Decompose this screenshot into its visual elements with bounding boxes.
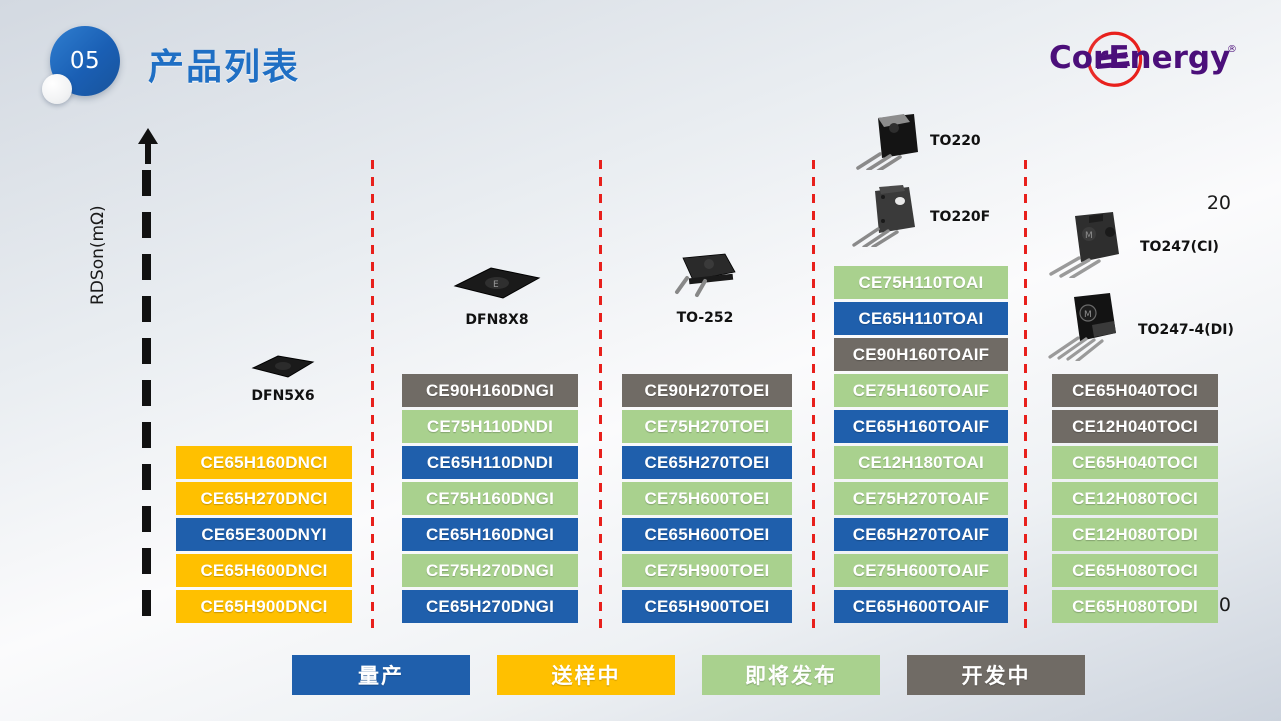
product-column-dfn8x8: CE90H160DNGICE75H110DNDICE65H110DNDICE75… — [402, 150, 578, 623]
column-divider-1 — [371, 160, 374, 630]
product-chip-label: CE65H040TOCI — [1072, 381, 1198, 401]
product-column-to252: CE90H270TOEICE75H270TOEICE65H270TOEICE75… — [622, 150, 792, 623]
product-chip-label: CE65H270DNGI — [426, 597, 554, 617]
section-number-badge: 05 — [42, 26, 138, 106]
badge-accent-dot — [42, 74, 72, 104]
product-chip[interactable]: CE65H900TOEI — [622, 590, 792, 623]
column-divider-2 — [599, 160, 602, 630]
product-chip[interactable]: CE75H600TOEI — [622, 482, 792, 515]
product-chip[interactable]: CE65H270DNGI — [402, 590, 578, 623]
product-chip-label: CE75H160DNGI — [426, 489, 554, 509]
product-chip-label: CE65H080TOCI — [1072, 561, 1198, 581]
corenergy-logo: CorEnergy ® — [1045, 28, 1245, 90]
product-chip[interactable]: CE65H600TOEI — [622, 518, 792, 551]
product-chip-label: CE75H110TOAI — [859, 273, 984, 293]
product-chip-label: CE90H160DNGI — [426, 381, 554, 401]
product-chip[interactable]: CE75H270DNGI — [402, 554, 578, 587]
product-chip[interactable]: CE12H180TOAI — [834, 446, 1008, 479]
product-chip[interactable]: CE75H600TOAIF — [834, 554, 1008, 587]
product-chip[interactable]: CE90H160TOAIF — [834, 338, 1008, 371]
product-chip-label: CE65H110DNDI — [427, 453, 553, 473]
product-chip[interactable]: CE65H270TOEI — [622, 446, 792, 479]
product-chip-label: CE65H600DNCI — [200, 561, 327, 581]
product-chip[interactable]: CE65H160TOAIF — [834, 410, 1008, 443]
product-chip[interactable]: CE75H270TOAIF — [834, 482, 1008, 515]
product-chip-label: CE12H040TOCI — [1072, 417, 1198, 437]
product-chip[interactable]: CE75H110TOAI — [834, 266, 1008, 299]
y-axis — [126, 128, 172, 628]
chip-list: CE65H040TOCICE12H040TOCICE65H040TOCICE12… — [1052, 374, 1218, 623]
product-chip-label: CE65H900TOEI — [645, 597, 770, 617]
product-chip[interactable]: CE65H110TOAI — [834, 302, 1008, 335]
product-chip-label: CE75H270TOAIF — [853, 489, 989, 509]
product-chip-label: CE65H270DNCI — [200, 489, 327, 509]
product-chip-label: CE75H900TOEI — [645, 561, 770, 581]
product-chip[interactable]: CE65H080TOCI — [1052, 554, 1218, 587]
chip-list: CE75H110TOAICE65H110TOAICE90H160TOAIFCE7… — [834, 266, 1008, 623]
product-chip[interactable]: CE12H080TOCI — [1052, 482, 1218, 515]
legend-item-label: 量产 — [358, 660, 404, 690]
page-title: 产品列表 — [148, 38, 300, 90]
product-chip[interactable]: CE65H160DNCI — [176, 446, 352, 479]
product-chip-label: CE65H080TODI — [1072, 597, 1198, 617]
product-chip-label: CE75H600TOEI — [645, 489, 770, 509]
product-chip-label: CE65E300DNYI — [201, 525, 326, 545]
product-chip[interactable]: CE12H040TOCI — [1052, 410, 1218, 443]
product-chip-label: CE65H160TOAIF — [853, 417, 989, 437]
axis-arrow-icon — [133, 128, 163, 164]
legend-item-mass-production[interactable]: 量产 — [292, 655, 470, 695]
legend-item-coming-soon[interactable]: 即将发布 — [702, 655, 880, 695]
product-chip-label: CE65H600TOEI — [645, 525, 770, 545]
product-chip[interactable]: CE75H270TOEI — [622, 410, 792, 443]
svg-text:CorEnergy: CorEnergy — [1049, 40, 1230, 76]
product-chip-label: CE65H160DNGI — [426, 525, 554, 545]
product-chip-label: CE75H270DNGI — [426, 561, 554, 581]
product-chip[interactable]: CE75H160TOAIF — [834, 374, 1008, 407]
product-chip[interactable]: CE65H270DNCI — [176, 482, 352, 515]
product-chip[interactable]: CE65H040TOCI — [1052, 446, 1218, 479]
column-divider-3 — [812, 160, 815, 630]
chip-list: CE90H270TOEICE75H270TOEICE65H270TOEICE75… — [622, 374, 792, 623]
product-chip[interactable]: CE65H270TOAIF — [834, 518, 1008, 551]
package-label: TO220 — [930, 133, 981, 149]
product-chip-label: CE75H270TOEI — [645, 417, 770, 437]
product-chip[interactable]: CE75H110DNDI — [402, 410, 578, 443]
product-chip-label: CE65H040TOCI — [1072, 453, 1198, 473]
product-column-to220: CE75H110TOAICE65H110TOAICE90H160TOAIFCE7… — [834, 150, 1008, 623]
axis-title-label: RDSon(mΩ) — [88, 205, 108, 305]
product-chip-label: CE75H160TOAIF — [853, 381, 989, 401]
product-chip-label: CE65H270TOEI — [645, 453, 770, 473]
product-chip[interactable]: CE65H110DNDI — [402, 446, 578, 479]
product-column-dfn5x6: CE65H160DNCICE65H270DNCICE65E300DNYICE65… — [176, 150, 352, 623]
product-chip[interactable]: CE90H160DNGI — [402, 374, 578, 407]
product-chip-label: CE12H080TOCI — [1072, 489, 1198, 509]
legend-item-label: 送样中 — [552, 660, 621, 690]
product-chip-label: CE65H600TOAIF — [853, 597, 989, 617]
legend-item-sampling[interactable]: 送样中 — [497, 655, 675, 695]
legend-item-label: 开发中 — [962, 660, 1031, 690]
product-chip[interactable]: CE65H600DNCI — [176, 554, 352, 587]
product-chip-label: CE90H270TOEI — [645, 381, 770, 401]
svg-text:®: ® — [1227, 44, 1237, 55]
product-chip[interactable]: CE65H900DNCI — [176, 590, 352, 623]
product-chip-label: CE65H270TOAIF — [853, 525, 989, 545]
product-chip-label: CE90H160TOAIF — [853, 345, 989, 365]
chip-list: CE65H160DNCICE65H270DNCICE65E300DNYICE65… — [176, 446, 352, 623]
product-chip[interactable]: CE65H040TOCI — [1052, 374, 1218, 407]
product-chip-label: CE12H180TOAI — [858, 453, 984, 473]
product-chip[interactable]: CE90H270TOEI — [622, 374, 792, 407]
product-chip[interactable]: CE65H600TOAIF — [834, 590, 1008, 623]
product-chip[interactable]: CE65E300DNYI — [176, 518, 352, 551]
product-chip[interactable]: CE65H160DNGI — [402, 518, 578, 551]
legend-item-label: 即将发布 — [745, 660, 837, 690]
badge-number-text: 05 — [70, 48, 100, 74]
product-chip-label: CE12H080TODI — [1072, 525, 1198, 545]
column-divider-4 — [1024, 160, 1027, 630]
product-chip[interactable]: CE75H900TOEI — [622, 554, 792, 587]
product-chip-label: CE65H160DNCI — [200, 453, 327, 473]
page-header: 05 产品列表 CorEnergy ® — [0, 0, 1281, 110]
legend-item-in-development[interactable]: 开发中 — [907, 655, 1085, 695]
product-chip-label: CE75H600TOAIF — [853, 561, 989, 581]
chip-list: CE90H160DNGICE75H110DNDICE65H110DNDICE75… — [402, 374, 578, 623]
status-legend: 量产送样中即将发布开发中 — [292, 655, 1085, 695]
product-chip-label: CE65H900DNCI — [200, 597, 327, 617]
product-chip[interactable]: CE12H080TODI — [1052, 518, 1218, 551]
product-chip[interactable]: CE75H160DNGI — [402, 482, 578, 515]
product-chip-label: CE75H110DNDI — [427, 417, 553, 437]
product-chip[interactable]: CE65H080TODI — [1052, 590, 1218, 623]
product-chip-label: CE65H110TOAI — [859, 309, 984, 329]
corenergy-logo-svg: CorEnergy ® — [1045, 28, 1245, 90]
product-column-to247: CE65H040TOCICE12H040TOCICE65H040TOCICE12… — [1052, 150, 1218, 623]
